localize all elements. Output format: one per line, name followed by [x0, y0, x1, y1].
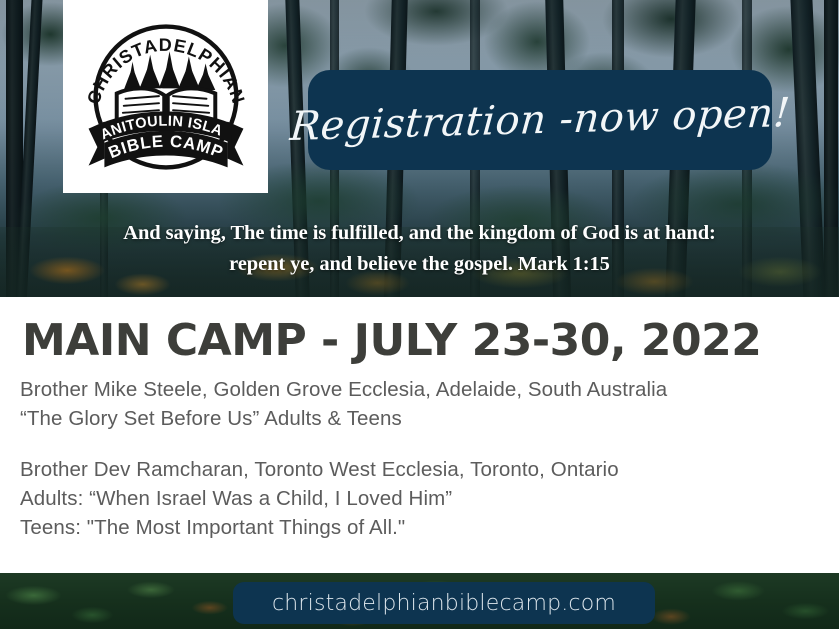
- verse-line-1: And saying, The time is fulfilled, and t…: [16, 218, 823, 249]
- speaker-name-line: Brother Dev Ramcharan, Toronto West Eccl…: [20, 455, 830, 484]
- speaker-topic-line: “The Glory Set Before Us” Adults & Teens: [20, 404, 830, 433]
- camp-logo: CHRISTADELPHIAN: [63, 0, 268, 193]
- main-camp-heading: MAIN CAMP - JULY 23-30, 2022: [22, 315, 761, 367]
- speaker-topic-line: Teens: "The Most Important Things of All…: [20, 513, 830, 542]
- camp-flyer: CHRISTADELPHIAN: [0, 0, 839, 629]
- website-url-text: christadelphianbiblecamp.com: [272, 591, 616, 616]
- verse-line-2: repent ye, and believe the gospel. Mark …: [16, 249, 823, 280]
- speaker-name-line: Brother Mike Steele, Golden Grove Eccles…: [20, 375, 830, 404]
- registration-banner-text: Registration -now open!: [288, 90, 792, 150]
- registration-banner: Registration -now open!: [308, 70, 772, 170]
- website-url-pill[interactable]: christadelphianbiblecamp.com: [233, 582, 655, 624]
- speaker-block: Brother Dev Ramcharan, Toronto West Eccl…: [20, 455, 830, 542]
- footer-photo-band: christadelphianbiblecamp.com: [0, 573, 839, 629]
- speaker-block: Brother Mike Steele, Golden Grove Eccles…: [20, 375, 830, 433]
- speaker-list: Brother Mike Steele, Golden Grove Eccles…: [20, 375, 830, 564]
- speaker-topic-line: Adults: “When Israel Was a Child, I Love…: [20, 484, 830, 513]
- details-section: MAIN CAMP - JULY 23-30, 2022 Brother Mik…: [0, 297, 839, 573]
- camp-logo-emblem: CHRISTADELPHIAN: [78, 9, 254, 185]
- scripture-verse: And saying, The time is fulfilled, and t…: [0, 218, 839, 280]
